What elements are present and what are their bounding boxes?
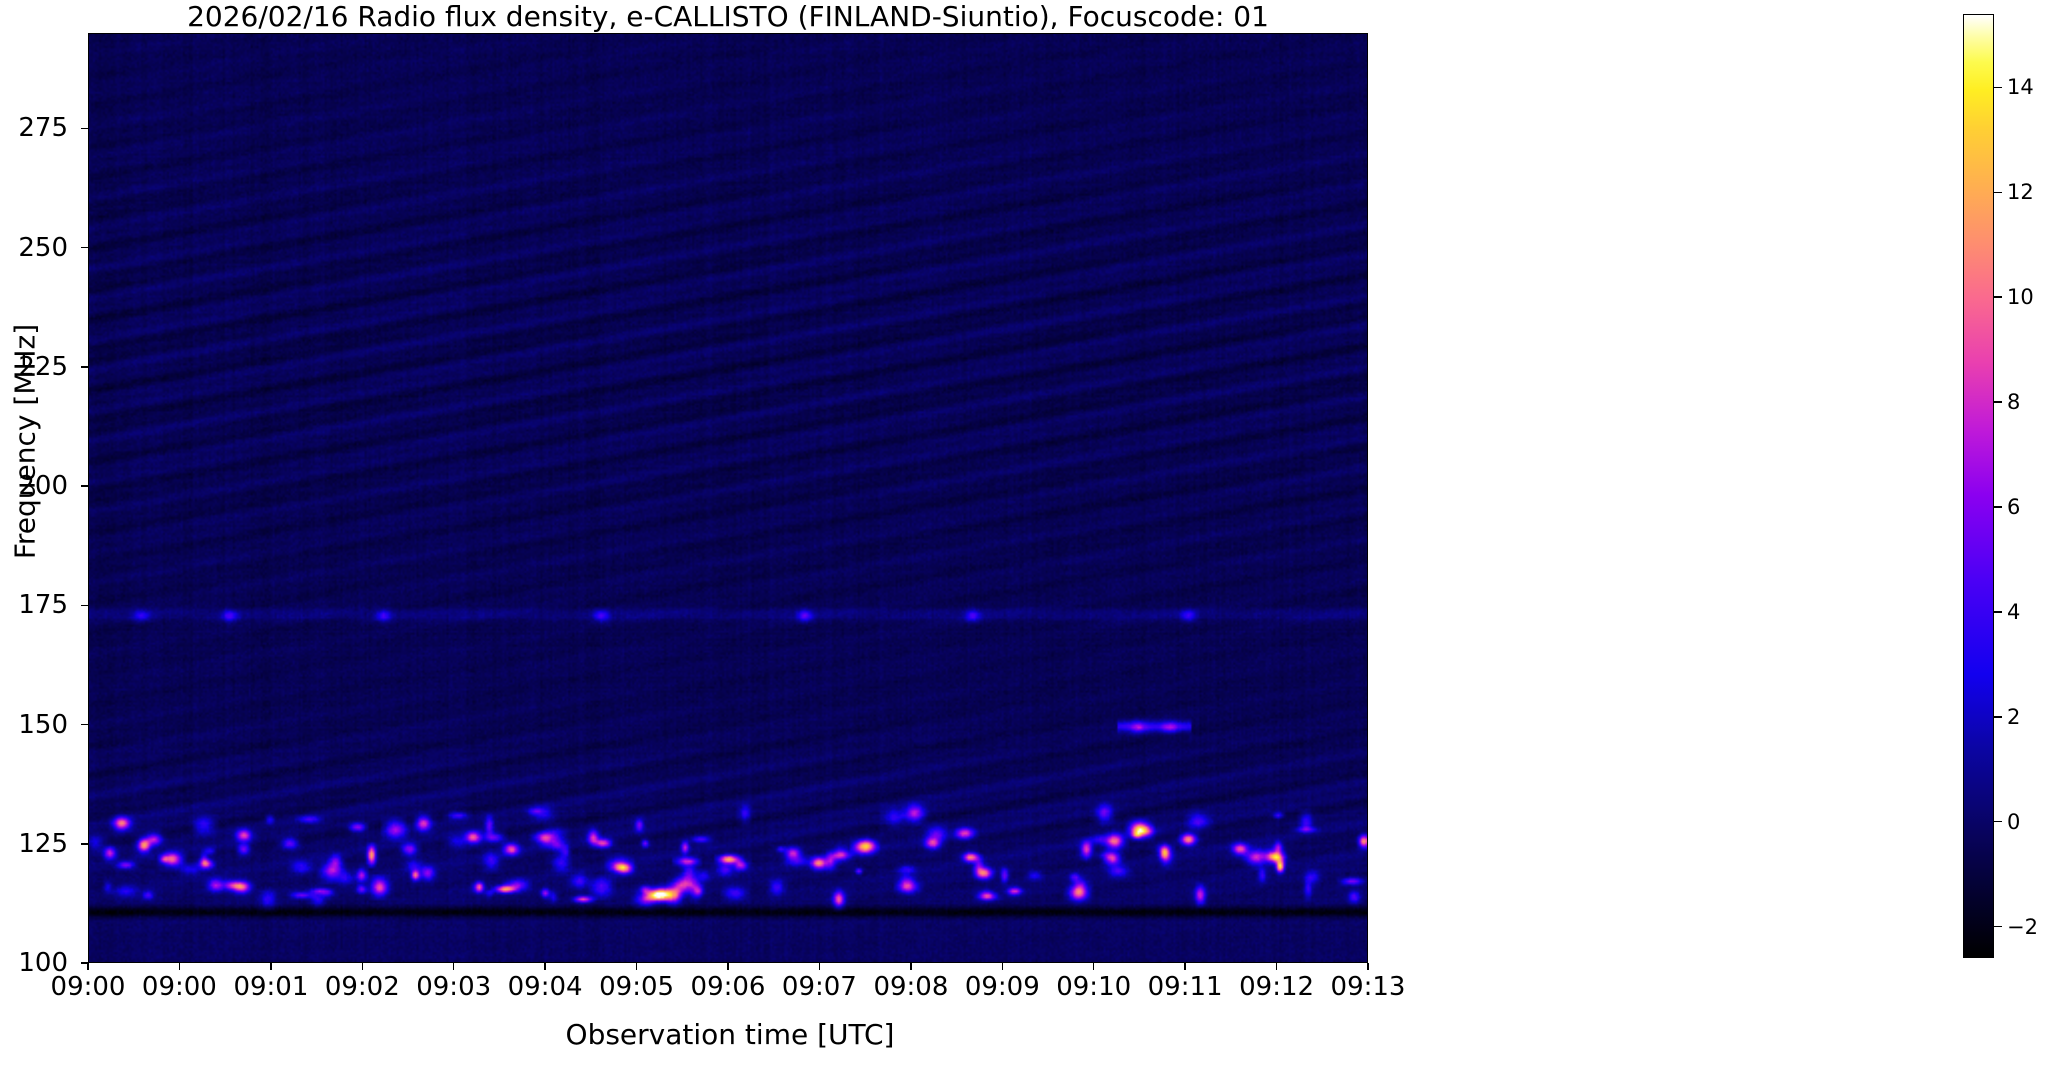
- x-tick-mark: [1184, 963, 1186, 970]
- spectrogram-image: [89, 34, 1367, 962]
- x-tick-mark: [87, 963, 89, 970]
- colorbar-tick-mark: [1994, 611, 2002, 613]
- colorbar-tick-label: −2: [2007, 917, 2038, 938]
- y-tick-label: 125: [0, 831, 68, 857]
- colorbar-tick-mark: [1994, 506, 2002, 508]
- x-tick-mark: [636, 963, 638, 970]
- colorbar-tick-label: 0: [2007, 812, 2020, 833]
- colorbar-tick-label: 8: [2007, 392, 2020, 413]
- x-tick-mark: [819, 963, 821, 970]
- y-tick-label: 150: [0, 712, 68, 738]
- x-tick-mark: [1276, 963, 1278, 970]
- y-tick-mark: [81, 247, 88, 249]
- colorbar-tick-mark: [1994, 401, 2002, 403]
- x-tick-mark: [1002, 963, 1004, 970]
- colorbar-tick-label: 4: [2007, 602, 2020, 623]
- colorbar[interactable]: [1963, 14, 1994, 958]
- x-tick-label: 09:13: [1298, 973, 1438, 1001]
- x-tick-mark: [1093, 963, 1095, 970]
- colorbar-tick-label: 6: [2007, 497, 2020, 518]
- colorbar-tick-mark: [1994, 87, 2002, 89]
- colorbar-tick-label: 12: [2007, 182, 2034, 203]
- y-tick-mark: [81, 485, 88, 487]
- y-tick-mark: [81, 366, 88, 368]
- x-tick-mark: [910, 963, 912, 970]
- x-tick-mark: [179, 963, 181, 970]
- colorbar-tick-mark: [1994, 821, 2002, 823]
- x-tick-mark: [270, 963, 272, 970]
- colorbar-tick-mark: [1994, 716, 2002, 718]
- colorbar-tick-mark: [1994, 926, 2002, 928]
- spectrogram-axes[interactable]: [88, 33, 1368, 963]
- y-axis-label: Frequency [MHz]: [9, 222, 42, 662]
- y-tick-label: 275: [0, 115, 68, 141]
- y-tick-mark: [81, 843, 88, 845]
- colorbar-tick-label: 10: [2007, 287, 2034, 308]
- y-tick-mark: [81, 605, 88, 607]
- x-tick-mark: [1367, 963, 1369, 970]
- figure-canvas: 2026/02/16 Radio flux density, e-CALLIST…: [0, 0, 2066, 1067]
- colorbar-gradient: [1963, 14, 1994, 958]
- x-tick-mark: [544, 963, 546, 970]
- colorbar-tick-label: 2: [2007, 707, 2020, 728]
- colorbar-tick-mark: [1994, 296, 2002, 298]
- x-axis-label: Observation time [UTC]: [0, 1018, 1460, 1051]
- colorbar-tick-label: 14: [2007, 77, 2034, 98]
- colorbar-tick-mark: [1994, 192, 2002, 194]
- page-title: 2026/02/16 Radio flux density, e-CALLIST…: [88, 2, 1368, 32]
- y-tick-mark: [81, 128, 88, 130]
- x-tick-mark: [453, 963, 455, 970]
- y-tick-mark: [81, 724, 88, 726]
- x-tick-mark: [727, 963, 729, 970]
- x-tick-mark: [362, 963, 364, 970]
